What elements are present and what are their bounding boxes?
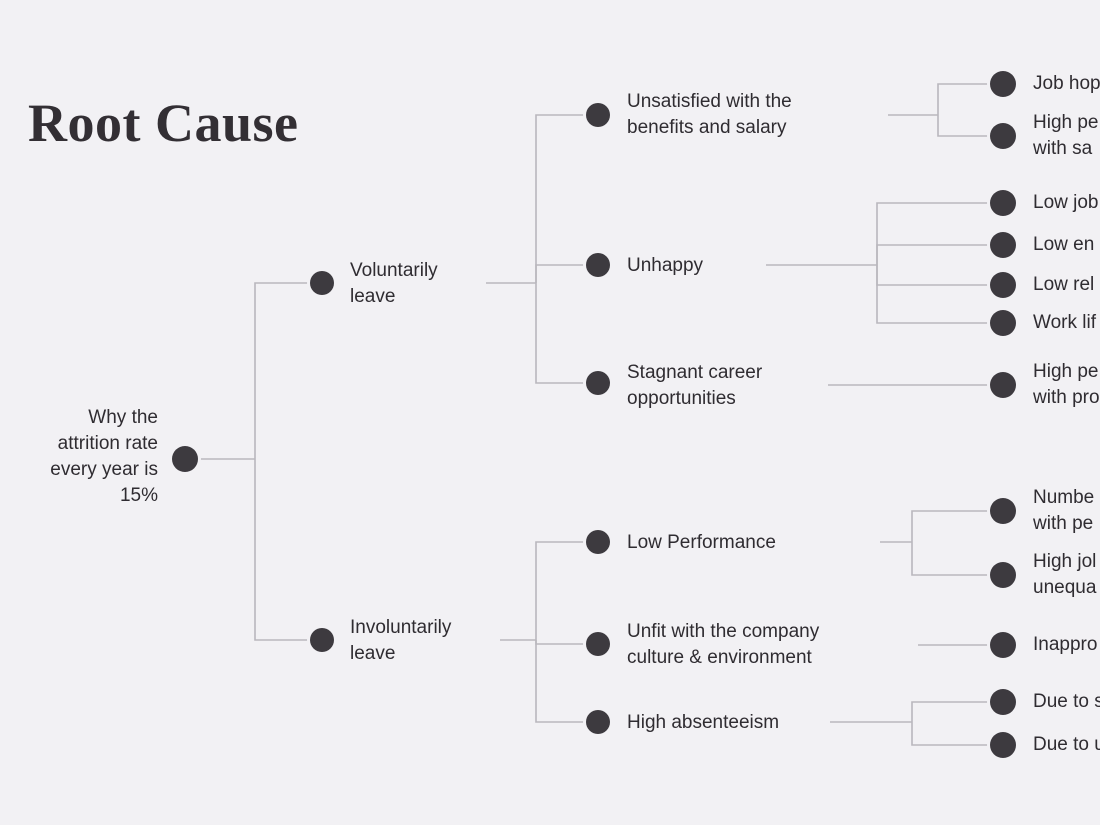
- node-label-due-to-u: Due to u: [1033, 732, 1100, 758]
- node-dot[interactable]: [990, 232, 1016, 258]
- node-label-high-jol-unequa: High jol unequa: [1033, 549, 1100, 601]
- node-dot[interactable]: [990, 632, 1016, 658]
- node-dot[interactable]: [990, 310, 1016, 336]
- node-label-high-pe-with-sa: High pe with sa: [1033, 110, 1100, 162]
- node-label-unsatisfied-benefits-salary: Unsatisfied with the benefits and salary: [627, 89, 957, 141]
- node-dot[interactable]: [990, 562, 1016, 588]
- node-label-job-hop: Job hop: [1033, 71, 1100, 97]
- node-label-low-performance: Low Performance: [627, 530, 957, 556]
- node-label-high-pe-with-pro: High pe with pro: [1033, 359, 1100, 411]
- edge-voluntarily-unsatisfied: [536, 115, 586, 283]
- node-dot[interactable]: [310, 271, 334, 295]
- node-dot[interactable]: [990, 732, 1016, 758]
- node-dot[interactable]: [990, 272, 1016, 298]
- node-label-root: Why the attrition rate every year is 15%: [8, 405, 158, 509]
- node-label-stagnant-career-opportunities: Stagnant career opportunities: [627, 360, 957, 412]
- node-dot[interactable]: [310, 628, 334, 652]
- node-dot[interactable]: [586, 371, 610, 395]
- node-dot[interactable]: [990, 71, 1016, 97]
- node-dot[interactable]: [586, 710, 610, 734]
- node-dot[interactable]: [990, 498, 1016, 524]
- node-dot[interactable]: [586, 253, 610, 277]
- node-label-work-lif: Work lif: [1033, 310, 1100, 336]
- node-label-low-rel: Low rel: [1033, 272, 1100, 298]
- edge-involuntarily-unfit: [536, 640, 586, 644]
- node-label-involuntarily-leave: Involuntarily leave: [350, 615, 451, 667]
- node-dot[interactable]: [586, 103, 610, 127]
- node-dot[interactable]: [172, 446, 198, 472]
- node-dot[interactable]: [990, 689, 1016, 715]
- node-label-low-en: Low en: [1033, 232, 1100, 258]
- edge-involuntarily-absenteeism: [536, 640, 586, 722]
- node-label-inappro: Inappro: [1033, 632, 1100, 658]
- node-dot[interactable]: [586, 530, 610, 554]
- edge-root-voluntarily: [255, 283, 310, 459]
- page-title: Root Cause: [28, 92, 299, 154]
- node-dot[interactable]: [990, 190, 1016, 216]
- node-label-unhappy: Unhappy: [627, 253, 957, 279]
- edge-involuntarily-lowperf: [536, 542, 586, 640]
- edge-voluntarily-unhappy: [536, 265, 586, 283]
- edge-root-involuntarily: [255, 459, 310, 640]
- node-dot[interactable]: [990, 372, 1016, 398]
- edge-voluntarily-stagnant: [536, 283, 586, 383]
- node-label-numbe-with-pe: Numbe with pe: [1033, 485, 1100, 537]
- node-label-high-absenteeism: High absenteeism: [627, 710, 957, 736]
- node-label-unfit-culture-environment: Unfit with the company culture & environ…: [627, 619, 957, 671]
- node-label-due-to-s: Due to s: [1033, 689, 1100, 715]
- node-dot[interactable]: [990, 123, 1016, 149]
- node-label-voluntarily-leave: Voluntarily leave: [350, 258, 438, 310]
- root-cause-diagram: Root Cause Why the attrition rate every …: [0, 0, 1100, 825]
- node-label-low-job: Low job: [1033, 190, 1100, 216]
- node-dot[interactable]: [586, 632, 610, 656]
